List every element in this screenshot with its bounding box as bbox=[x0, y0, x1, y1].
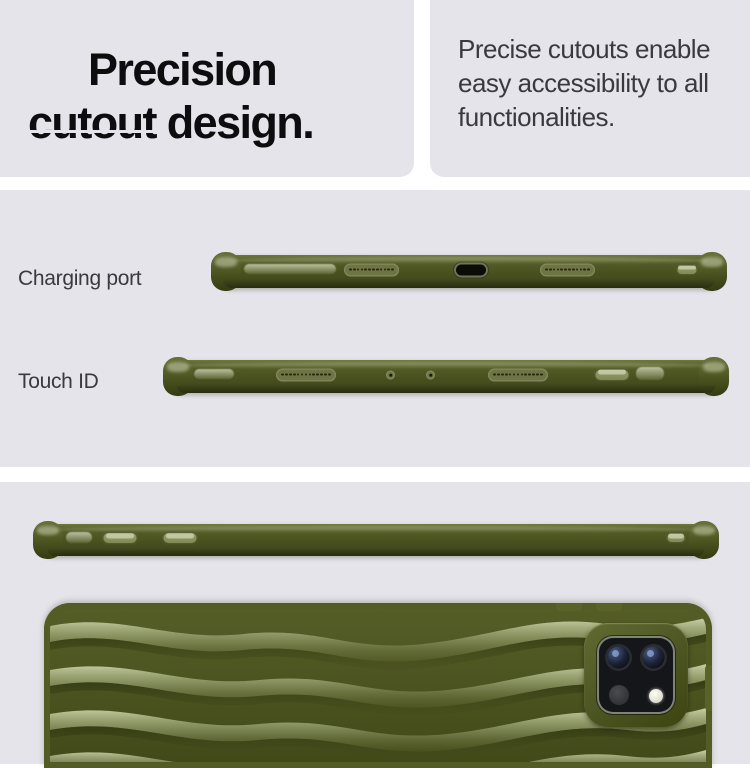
cap3-gloss-left bbox=[37, 526, 59, 536]
tablet-back-view bbox=[44, 603, 712, 768]
volume-button-edge-view bbox=[40, 524, 712, 556]
volume-down-button-cutout bbox=[162, 532, 198, 545]
touch-id-button-gloss bbox=[598, 370, 627, 375]
edge3-lowlight bbox=[47, 548, 706, 556]
camera-flash-icon bbox=[649, 689, 663, 703]
camera-lens-ultrawide-icon bbox=[640, 644, 667, 671]
camera-lens-wide-icon bbox=[605, 644, 632, 671]
cap2-gloss-left bbox=[167, 362, 189, 372]
top-button-nub-2 bbox=[596, 603, 622, 611]
edge3-sheen bbox=[53, 526, 698, 533]
edge2-lowlight bbox=[176, 384, 717, 393]
cap3-gloss-right bbox=[693, 526, 715, 536]
speaker-grille-left bbox=[344, 263, 399, 276]
edge3-small-cutout bbox=[666, 533, 686, 544]
microphone-hole-1 bbox=[386, 371, 395, 380]
camera-plate bbox=[597, 636, 675, 714]
cutout-detail-panel bbox=[0, 190, 750, 467]
edge-light-strip bbox=[244, 264, 336, 275]
subheadline-text: Precise cutouts enable easy accessibilit… bbox=[458, 33, 740, 134]
touch-id-edge-view bbox=[170, 360, 722, 393]
edge2-sheen bbox=[181, 362, 711, 369]
camera-module bbox=[584, 623, 688, 727]
cutout-styled-word: cutout bbox=[28, 97, 156, 150]
side-button-nub bbox=[705, 665, 712, 711]
usb-c-port-cutout bbox=[454, 263, 488, 278]
cap2-gloss-right bbox=[703, 362, 725, 372]
cap-gloss-left bbox=[215, 257, 237, 267]
edge-small-cutout-gloss bbox=[678, 265, 696, 269]
volume-down-gloss bbox=[166, 533, 195, 538]
headline-cut-prefix: cut bbox=[28, 97, 91, 148]
edge3-light-strip bbox=[66, 532, 92, 542]
edge3-small-cutout-gloss bbox=[668, 534, 684, 538]
edge2-light-strip-right bbox=[636, 367, 664, 380]
feature-label-charging-port: Charging port bbox=[18, 267, 141, 291]
marketing-image: Precision cutout design. Precise cutouts… bbox=[0, 0, 750, 750]
microphone-hole-2 bbox=[426, 371, 435, 380]
speaker-grille-top-right bbox=[488, 368, 548, 381]
page-title: Precision cutout design. bbox=[88, 44, 418, 149]
speaker-grille-top-left bbox=[276, 368, 336, 381]
volume-up-gloss bbox=[106, 533, 135, 538]
headline-line-2-tail: design. bbox=[156, 97, 313, 148]
headline-line-2: cutout design. bbox=[28, 97, 418, 150]
headline-line-1: Precision bbox=[88, 44, 276, 95]
edge-lowlight bbox=[223, 279, 715, 288]
headline-cut-suffix: out bbox=[91, 97, 156, 148]
lidar-sensor-icon bbox=[609, 685, 629, 705]
volume-up-button-cutout bbox=[102, 532, 138, 545]
touch-id-button-cutout bbox=[594, 368, 630, 381]
edge-small-cutout bbox=[676, 264, 698, 275]
top-button-nub-1 bbox=[556, 603, 582, 611]
speaker-grille-right bbox=[540, 263, 595, 276]
feature-label-touch-id: Touch ID bbox=[18, 370, 98, 394]
edge2-light-strip bbox=[194, 369, 234, 380]
cap-gloss-right bbox=[701, 257, 723, 267]
charging-port-edge-view bbox=[218, 255, 720, 288]
